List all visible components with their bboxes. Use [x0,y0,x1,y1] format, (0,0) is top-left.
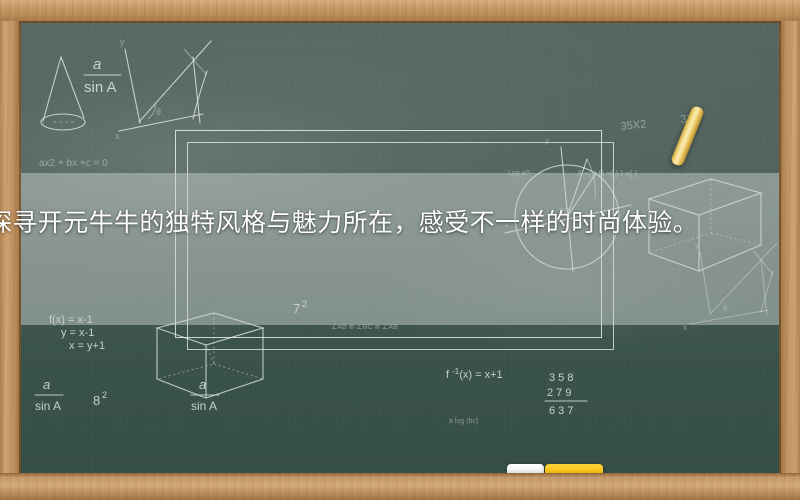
inverse-function-text: f -1(x) = x+1 [446,367,503,381]
page-title: 探寻开元牛牛的独特风格与魅力所在，感受不一样的时尚体验。 [0,200,779,245]
fraction-a-over-sinA-topleft: a sin A [84,56,121,96]
svg-text:θ: θ [156,107,161,117]
svg-text:2: 2 [102,390,107,400]
frame-bottom-ledge [0,473,800,500]
svg-text:y = x-1: y = x-1 [61,327,94,339]
svg-text:a: a [93,56,101,73]
yellow-chalk-piece-icon [545,464,603,473]
cone-diagram [41,57,85,130]
chalkboard-surface: a sin A y x θ ax2 + bx +c = 0 [21,23,779,473]
frame-right-edge [781,0,800,500]
svg-text:x: x [115,131,120,141]
svg-text:8: 8 [93,393,100,408]
svg-text:sin A: sin A [191,399,217,413]
angle-diagram-topleft: y x θ [115,37,211,141]
frame-left-edge [0,0,19,500]
chalkboard-banner: a sin A y x θ ax2 + bx +c = 0 [0,0,800,500]
svg-text:2 7 9: 2 7 9 [547,387,571,399]
quadratic-equation-text: ax2 + bx +c = 0 [39,158,108,169]
text-overlay-band [21,173,779,325]
fraction-a-over-sinA-bottomleft-1: a sin A [35,377,63,413]
svg-text:sin A: sin A [35,399,61,413]
yellow-chalk-stick-icon [670,105,705,167]
svg-text:x = y+1: x = y+1 [69,340,105,352]
white-chalk-piece-icon [507,464,544,473]
svg-text:6 3 7: 6 3 7 [549,405,573,417]
svg-text:y: y [120,37,125,47]
label-35x2: 35X2 [620,118,647,133]
svg-text:sin A: sin A [84,79,117,96]
svg-text:a: a [43,377,50,392]
fraction-a-over-sinA-bottomleft-2: a sin A [191,377,219,413]
frame-top-edge [0,0,800,21]
arithmetic-subtraction: 3 5 8 2 7 9 6 3 7 [545,372,587,417]
svg-text:3 5 8: 3 5 8 [549,372,573,384]
svg-text:a: a [199,377,206,392]
log-expression-text: a log (bc) [449,418,478,425]
eight-squared: 8 2 [93,390,107,408]
